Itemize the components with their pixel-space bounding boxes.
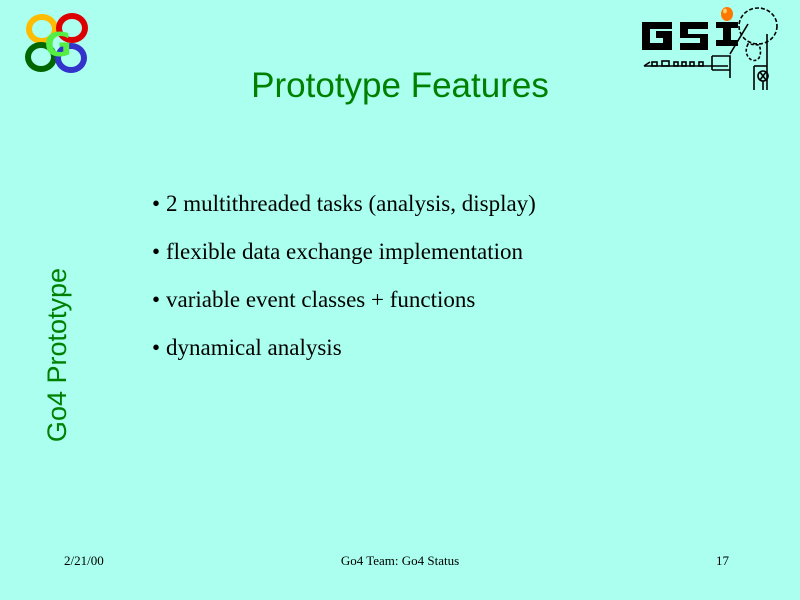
gsi-accent-dot-icon xyxy=(721,7,733,21)
list-item-text: flexible data exchange implementation xyxy=(166,239,523,264)
go4-logo-letter-g: G xyxy=(41,28,75,62)
footer-page-number: 17 xyxy=(716,551,729,571)
list-item: •flexible data exchange implementation xyxy=(152,238,712,266)
gsi-wordmark-icon xyxy=(642,22,738,50)
list-item: •variable event classes + functions xyxy=(152,286,712,314)
list-item: •dynamical analysis xyxy=(152,334,712,362)
list-item-text: variable event classes + functions xyxy=(166,287,475,312)
bullet-glyph-icon: • xyxy=(152,334,166,362)
bullet-glyph-icon: • xyxy=(152,286,166,314)
slide-canvas: G xyxy=(0,0,800,600)
list-item-text: 2 multithreaded tasks (analysis, display… xyxy=(166,191,536,216)
bullet-glyph-icon: • xyxy=(152,190,166,218)
bullet-list: •2 multithreaded tasks (analysis, displa… xyxy=(152,190,712,382)
page-title: Prototype Features xyxy=(0,64,800,108)
vertical-section-label: Go4 Prototype xyxy=(42,235,72,475)
list-item: •2 multithreaded tasks (analysis, displa… xyxy=(152,190,712,218)
bullet-glyph-icon: • xyxy=(152,238,166,266)
slide-footer: 2/21/00 Go4 Team: Go4 Status 17 xyxy=(0,551,800,571)
footer-presentation-title: Go4 Team: Go4 Status xyxy=(0,551,800,571)
list-item-text: dynamical analysis xyxy=(166,335,342,360)
